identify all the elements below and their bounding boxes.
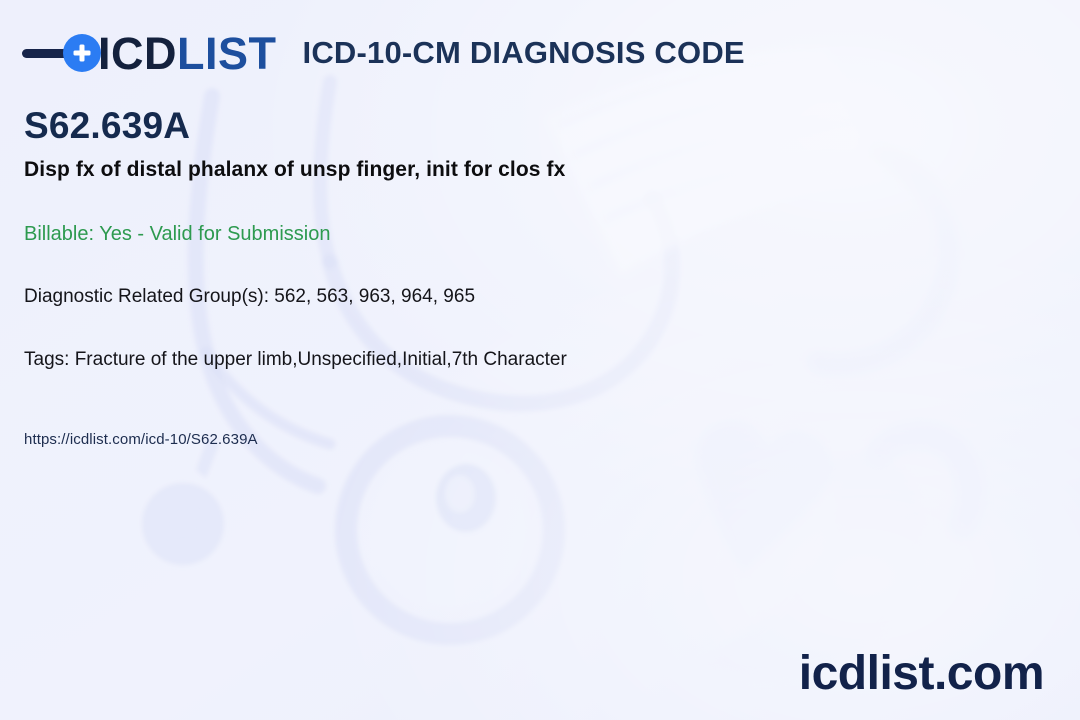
page-header: ICDLIST ICD-10-CM DIAGNOSIS CODE [22, 26, 745, 80]
plus-icon [63, 34, 101, 72]
icdlist-logo[interactable]: ICDLIST [22, 26, 277, 80]
logo-wordmark-icd: ICD [98, 28, 177, 79]
page-title: ICD-10-CM DIAGNOSIS CODE [303, 35, 745, 71]
code-details: S62.639A Disp fx of distal phalanx of un… [24, 106, 1024, 449]
icd-code-card: ICDLIST ICD-10-CM DIAGNOSIS CODE S62.639… [0, 0, 1080, 720]
source-url[interactable]: https://icdlist.com/icd-10/S62.639A [24, 431, 1024, 449]
code-tags: Tags: Fracture of the upper limb,Unspeci… [24, 349, 1024, 372]
logo-wordmark: ICDLIST [98, 31, 277, 76]
billable-status-badge: Billable: Yes - Valid for Submission [24, 222, 1024, 246]
footer-brand: icdlist.com [799, 650, 1044, 698]
diagnostic-related-groups: Diagnostic Related Group(s): 562, 563, 9… [24, 286, 1024, 309]
diagnosis-description: Disp fx of distal phalanx of unsp finger… [24, 157, 1024, 182]
diagnosis-code: S62.639A [24, 106, 1024, 147]
logo-wordmark-list: LIST [177, 28, 277, 79]
